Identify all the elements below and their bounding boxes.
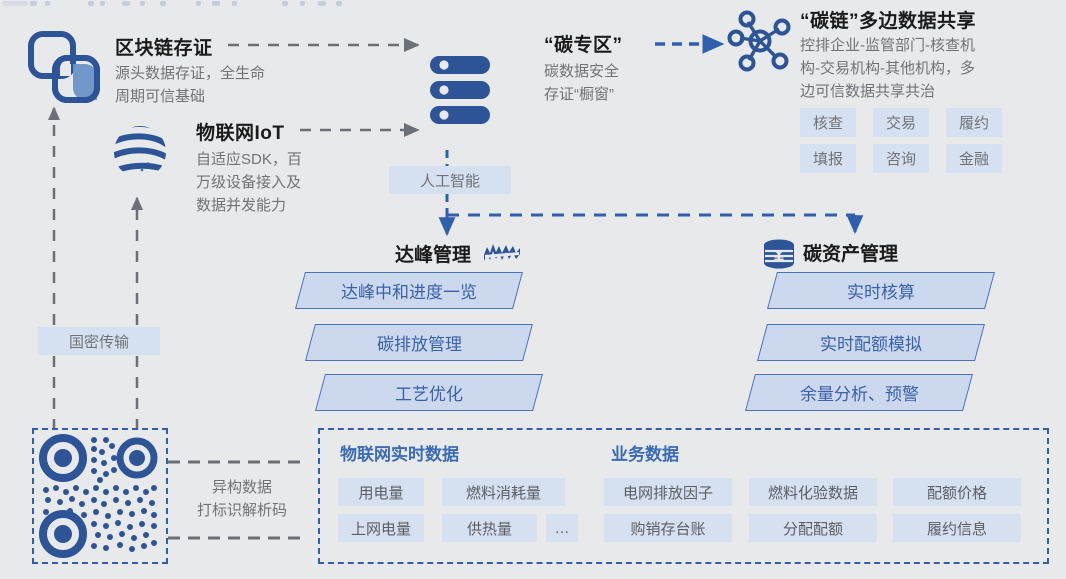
peak-management-title: 达峰管理 <box>395 240 471 267</box>
carbon-chain-tag-jinrong[interactable]: 金融 <box>946 144 1002 173</box>
carbon-zone-desc: 碳数据安全 存证“橱窗” <box>544 60 724 106</box>
data-chip-purchase-ledger[interactable]: 购销存台账 <box>604 514 732 542</box>
peak-item-process[interactable]: 工艺优化 <box>315 374 543 411</box>
diagram-canvas: 区块链存证 源头数据存证，全生命 周期可信基础 物联网IoT 自适应SDK，百 <box>0 0 1066 579</box>
carbon-chain-desc-line3: 边可信数据共享共治 <box>800 80 1025 103</box>
server-stack-icon <box>428 54 492 133</box>
qr-code-icon <box>36 430 164 558</box>
asset-item-quota-simulation[interactable]: 实时配额模拟 <box>757 324 985 361</box>
data-chip-grid-power[interactable]: 上网电量 <box>338 514 424 542</box>
blockchain-title: 区块链存证 <box>115 33 213 60</box>
carbon-chain-title: “碳链”多边数据共享 <box>800 6 976 33</box>
carbon-chain-tag-zixun[interactable]: 咨询 <box>873 144 929 173</box>
carbon-chain-desc: 控排企业-监管部门-核查机 构-交易机构-其他机构，多 边可信数据共享共治 <box>800 34 1025 103</box>
carbon-chain-desc-line2: 构-交易机构-其他机构，多 <box>800 57 1025 80</box>
asset-item-realtime-accounting-label: 实时核算 <box>847 278 915 303</box>
carbon-zone-title: “碳专区” <box>544 30 623 57</box>
data-chip-grid-emission-factor[interactable]: 电网排放因子 <box>604 478 732 506</box>
data-chip-heat-supply[interactable]: 供热量 <box>442 514 537 542</box>
business-data-group-title: 业务数据 <box>611 440 679 465</box>
asset-management-title: 碳资产管理 <box>803 239 898 266</box>
carbon-chain-tag-jiaoyi[interactable]: 交易 <box>873 108 929 137</box>
data-chip-fuel-consumption[interactable]: 燃料消耗量 <box>442 478 565 506</box>
data-chip-quota-price[interactable]: 配额价格 <box>893 478 1021 506</box>
identifier-box <box>32 428 168 564</box>
ai-label: 人工智能 <box>389 166 511 194</box>
blockchain-desc-line1: 源头数据存证，全生命 <box>115 62 315 85</box>
network-share-icon <box>727 8 793 79</box>
peak-item-progress[interactable]: 达峰中和进度一览 <box>295 272 523 309</box>
carbon-chain-tag-lvyue[interactable]: 履约 <box>946 108 1002 137</box>
peak-item-emission[interactable]: 碳排放管理 <box>305 324 533 361</box>
waveform-peak-icon <box>482 240 522 273</box>
carbon-zone-desc-line1: 碳数据安全 <box>544 60 724 83</box>
asset-item-balance-analysis-label: 余量分析、预警 <box>800 380 919 405</box>
iot-desc-line2: 万级设备接入及 <box>196 171 386 194</box>
iot-data-group-title: 物联网实时数据 <box>340 440 459 465</box>
database-yuan-icon <box>761 239 797 276</box>
peak-item-process-label: 工艺优化 <box>395 380 463 405</box>
peak-item-progress-label: 达峰中和进度一览 <box>341 278 477 303</box>
data-chip-power-consumption[interactable]: 用电量 <box>338 478 424 506</box>
peak-item-emission-label: 碳排放管理 <box>377 330 462 355</box>
carbon-zone-desc-line2: 存证“橱窗” <box>544 83 724 106</box>
iot-title: 物联网IoT <box>196 118 285 145</box>
secure-transport-label: 国密传输 <box>38 327 160 355</box>
asset-item-balance-analysis[interactable]: 余量分析、预警 <box>745 374 973 411</box>
data-chip-compliance-info[interactable]: 履约信息 <box>893 514 1021 542</box>
blockchain-desc: 源头数据存证，全生命 周期可信基础 <box>115 62 315 108</box>
data-chip-fuel-assay[interactable]: 燃料化验数据 <box>749 478 877 506</box>
blockchain-links-icon <box>27 30 101 109</box>
blockchain-desc-line2: 周期可信基础 <box>115 85 315 108</box>
carbon-chain-tag-tianbao[interactable]: 填报 <box>800 144 856 173</box>
identifier-desc-line2: 打标识解析码 <box>182 499 302 522</box>
carbon-chain-desc-line1: 控排企业-监管部门-核查机 <box>800 34 1025 57</box>
asset-item-realtime-accounting[interactable]: 实时核算 <box>767 272 995 309</box>
identifier-desc-line1: 异构数据 <box>182 476 302 499</box>
asset-item-quota-simulation-label: 实时配额模拟 <box>820 330 922 355</box>
iot-desc-line3: 数据并发能力 <box>196 194 386 217</box>
iot-desc: 自适应SDK，百 万级设备接入及 数据并发能力 <box>196 148 386 217</box>
watermark-strip <box>0 0 360 10</box>
data-chip-allocated-quota[interactable]: 分配配额 <box>749 514 877 542</box>
carbon-chain-tag-hecha[interactable]: 核查 <box>800 108 856 137</box>
iot-desc-line1: 自适应SDK，百 <box>196 148 386 171</box>
identifier-desc: 异构数据 打标识解析码 <box>182 476 302 522</box>
iot-globe-icon <box>108 120 172 189</box>
data-chip-more[interactable]: … <box>546 514 578 542</box>
